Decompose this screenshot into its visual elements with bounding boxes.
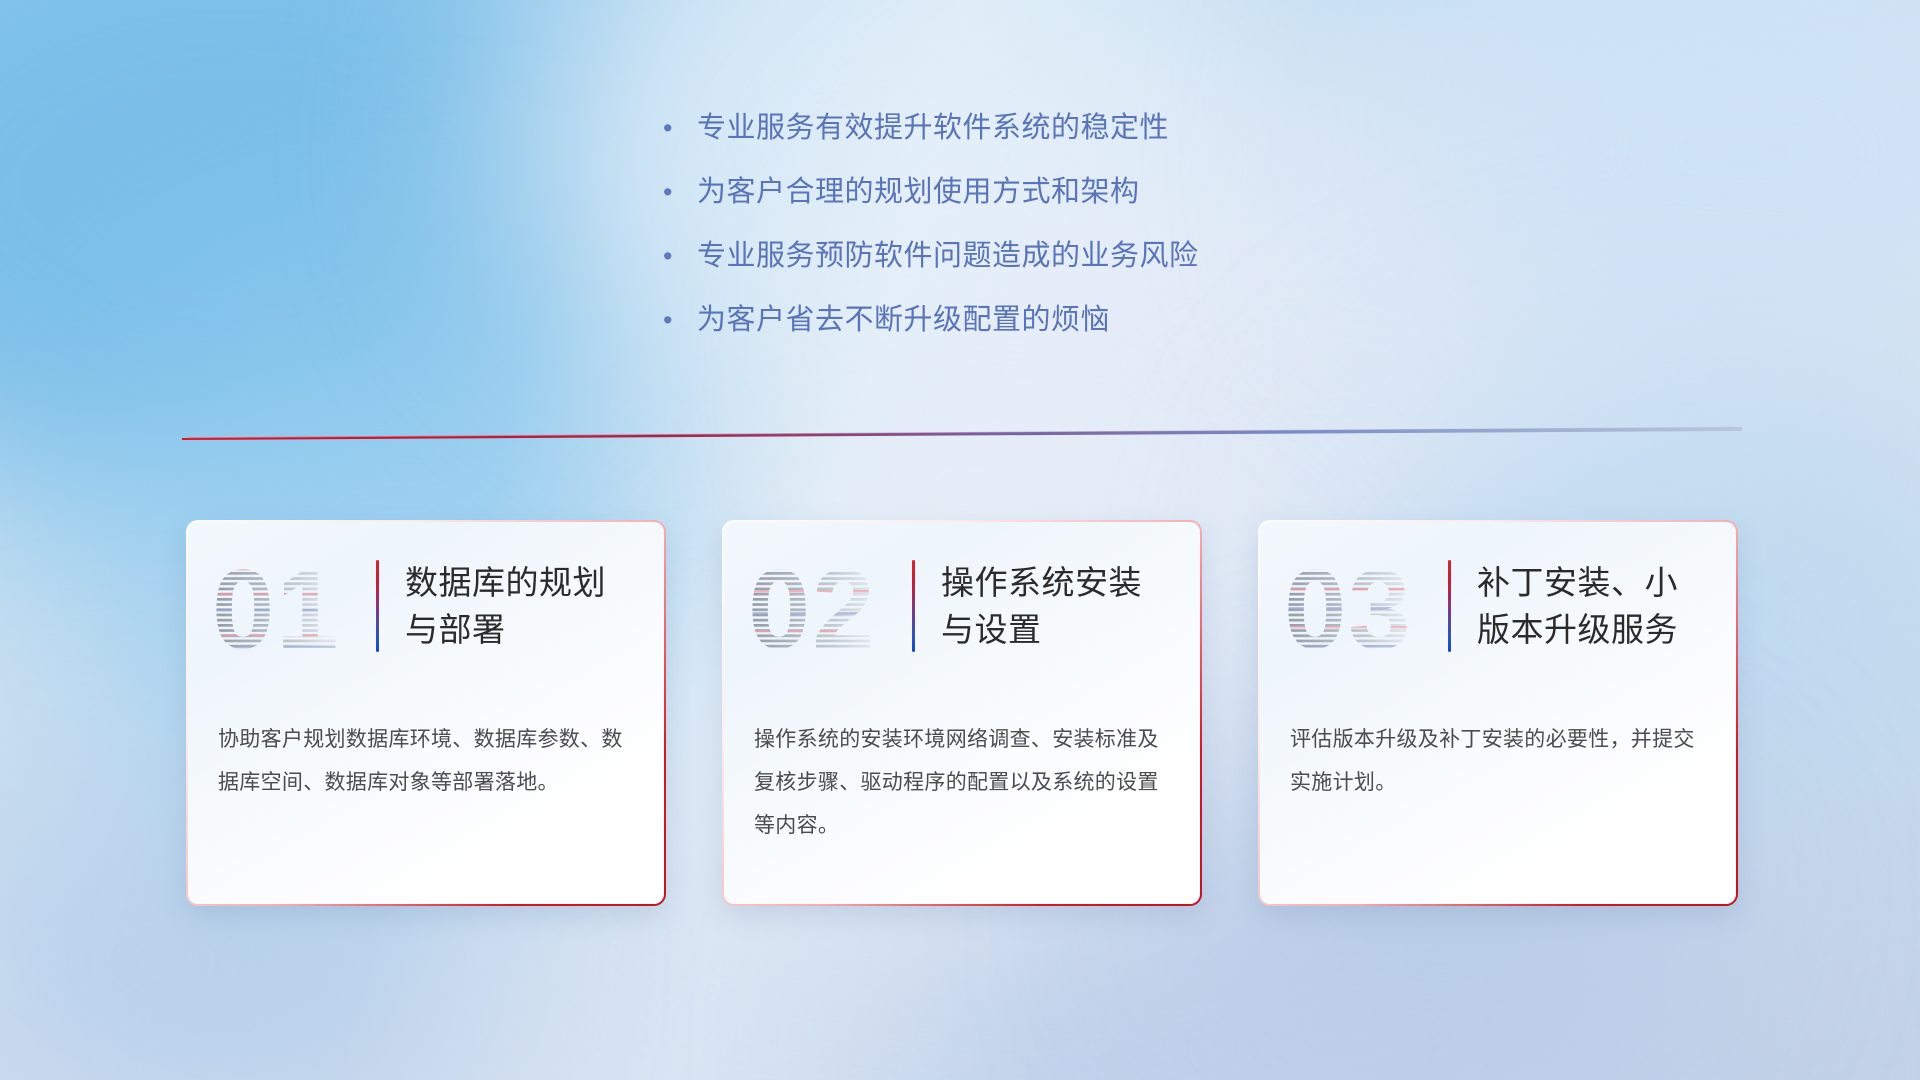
card-number-02-icon: 02 (746, 546, 906, 666)
bullet-text: 为客户合理的规划使用方式和架构 (697, 172, 1140, 212)
bullet-text: 为客户省去不断升级配置的烦恼 (697, 300, 1110, 340)
service-card[interactable]: 03 (1258, 520, 1738, 906)
card-number-03-icon: 03 (1282, 546, 1442, 666)
service-card[interactable]: 02 (722, 520, 1202, 906)
divider-shape-icon (182, 418, 1742, 440)
card-title: 操作系统安装 与设置 (941, 559, 1142, 653)
card-number-01-icon: 01 (210, 546, 370, 666)
service-card-header: 01 (188, 546, 664, 666)
benefits-bullet-list: • 专业服务有效提升软件系统的稳定性 • 为客户合理的规划使用方式和架构 • 专… (663, 108, 1503, 364)
bullet-dot-icon: • (663, 108, 697, 148)
service-card-inner: 03 (1260, 522, 1736, 904)
card-title: 补丁安装、小 版本升级服务 (1477, 559, 1678, 653)
service-card-inner: 02 (724, 522, 1200, 904)
service-card-list: 01 (186, 520, 1738, 906)
list-item: • 专业服务预防软件问题造成的业务风险 (663, 236, 1503, 300)
bullet-dot-icon: • (663, 300, 697, 340)
bullet-text: 专业服务有效提升软件系统的稳定性 (697, 108, 1169, 148)
card-accent-bar (1448, 560, 1451, 652)
service-card-inner: 01 (188, 522, 664, 904)
card-accent-bar (376, 560, 379, 652)
bullet-dot-icon: • (663, 236, 697, 276)
card-title: 数据库的规划 与部署 (405, 559, 606, 653)
striped-numeral-glyph: 03 (1282, 546, 1442, 666)
card-accent-bar (912, 560, 915, 652)
section-divider (182, 418, 1742, 440)
list-item: • 为客户省去不断升级配置的烦恼 (663, 300, 1503, 364)
card-body-text: 协助客户规划数据库环境、数据库参数、数据库空间、数据库对象等部署落地。 (218, 718, 636, 804)
list-item: • 专业服务有效提升软件系统的稳定性 (663, 108, 1503, 172)
striped-numeral-glyph: 02 (746, 546, 906, 666)
striped-numeral-glyph: 01 (210, 546, 370, 666)
bullet-text: 专业服务预防软件问题造成的业务风险 (697, 236, 1199, 276)
card-body-text: 操作系统的安装环境网络调查、安装标准及复核步骤、驱动程序的配置以及系统的设置等内… (754, 718, 1172, 847)
list-item: • 为客户合理的规划使用方式和架构 (663, 172, 1503, 236)
service-card-header: 02 (724, 546, 1200, 666)
card-body-text: 评估版本升级及补丁安装的必要性，并提交实施计划。 (1290, 718, 1708, 804)
bullet-dot-icon: • (663, 172, 697, 212)
service-card[interactable]: 01 (186, 520, 666, 906)
service-card-header: 03 (1260, 546, 1736, 666)
